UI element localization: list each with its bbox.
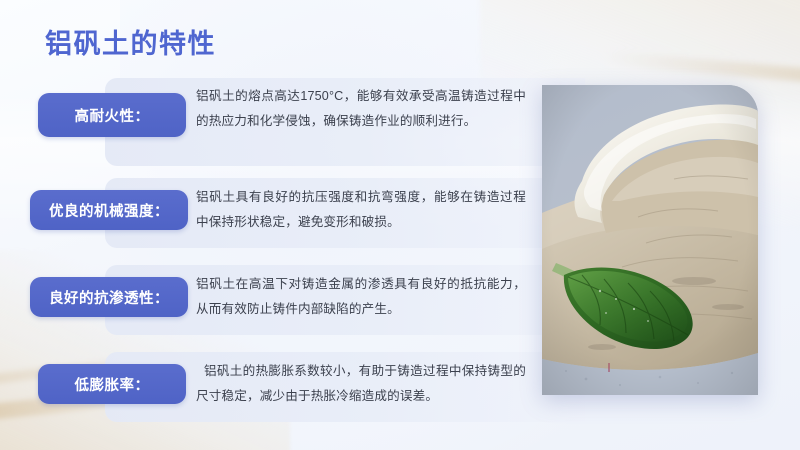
bauxite-powder-photo [542,85,758,395]
feature-label-badge-permeation-resistance[interactable]: 良好的抗渗透性： [30,277,188,317]
slide-canvas: 铝矾土的特性 高耐火性： 铝矾土的熔点高达1750°C，能够有效承受高温铸造过程… [0,0,800,450]
page-title: 铝矾土的特性 [45,31,216,58]
feature-text-high-refractoriness: 铝矾土的熔点高达1750°C，能够有效承受高温铸造过程中的热应力和化学侵蚀，确保… [196,84,526,133]
feature-label-badge-high-refractoriness[interactable]: 高耐火性： [38,93,186,137]
feature-text-mechanical-strength: 铝矾土具有良好的抗压强度和抗弯强度，能够在铸造过程中保持形状稳定，避免变形和破损… [196,185,526,234]
feature-text-low-expansion: 铝矾土的热膨胀系数较小，有助于铸造过程中保持铸型的尺寸稳定，减少由于热胀冷缩造成… [196,359,526,408]
feature-label-badge-low-expansion[interactable]: 低膨胀率： [38,364,186,404]
feature-label-badge-mechanical-strength[interactable]: 优良的机械强度： [30,190,188,230]
feature-text-permeation-resistance: 铝矾土在高温下对铸造金属的渗透具有良好的抵抗能力，从而有效防止铸件内部缺陷的产生… [196,272,526,321]
